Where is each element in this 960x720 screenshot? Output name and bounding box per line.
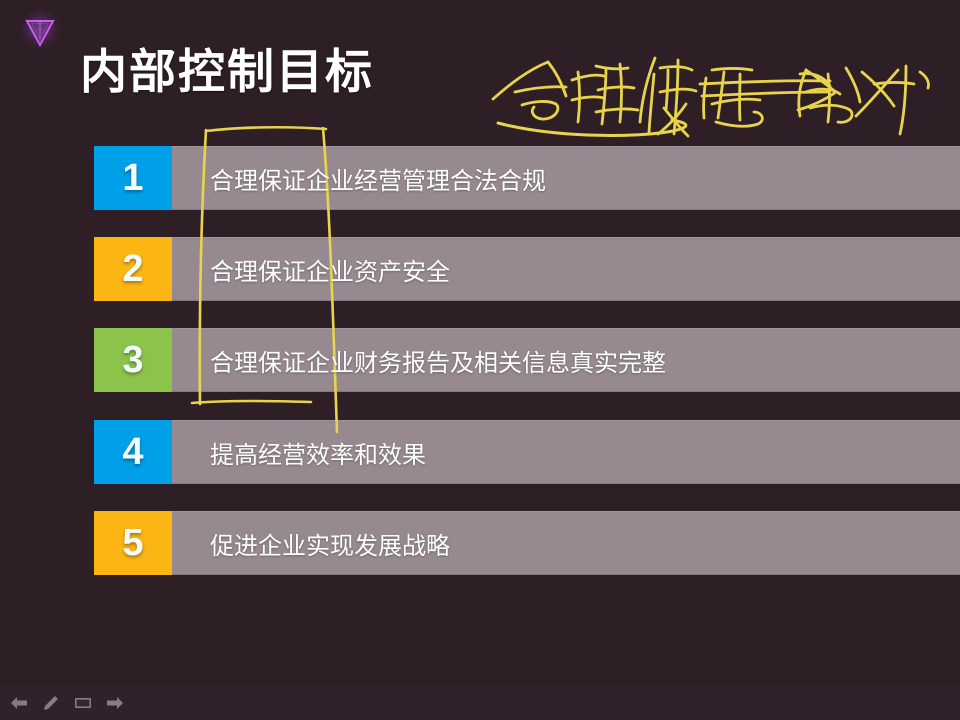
item-number-badge: 5 xyxy=(94,511,172,575)
list-item[interactable]: 4 提高经营效率和效果 xyxy=(94,420,960,484)
back-arrow-icon[interactable] xyxy=(8,693,30,713)
list-item[interactable]: 2 合理保证企业资产安全 xyxy=(94,237,960,301)
item-number-badge: 4 xyxy=(94,420,172,484)
item-label: 合理保证企业财务报告及相关信息真实完整 xyxy=(172,328,666,392)
item-label: 促进企业实现发展战略 xyxy=(172,511,450,575)
ink-text-right xyxy=(799,66,929,134)
item-number-badge: 1 xyxy=(94,146,172,210)
screen-icon[interactable] xyxy=(72,693,94,713)
page-title: 内部控制目标 xyxy=(80,48,374,95)
forward-arrow-icon[interactable] xyxy=(104,693,126,713)
ink-text-left xyxy=(493,58,762,136)
item-number-badge: 2 xyxy=(94,237,172,301)
pen-icon[interactable] xyxy=(40,693,62,713)
item-label: 提高经营效率和效果 xyxy=(172,420,426,484)
inverted-triangle-logo xyxy=(18,10,62,54)
presentation-slide: 内部控制目标 1 合理保证企业经营管理合法合规 2 合理保证企业资产安全 3 合… xyxy=(0,0,960,720)
list-item[interactable]: 1 合理保证企业经营管理合法合规 xyxy=(94,146,960,210)
ink-arrow xyxy=(700,70,836,110)
item-number-badge: 3 xyxy=(94,328,172,392)
ink-underline xyxy=(498,120,686,136)
list-item[interactable]: 5 促进企业实现发展战略 xyxy=(94,511,960,575)
list-item[interactable]: 3 合理保证企业财务报告及相关信息真实完整 xyxy=(94,328,960,392)
item-label: 合理保证企业经营管理合法合规 xyxy=(172,146,546,210)
presentation-toolbar[interactable] xyxy=(0,686,960,720)
item-label: 合理保证企业资产安全 xyxy=(172,237,450,301)
